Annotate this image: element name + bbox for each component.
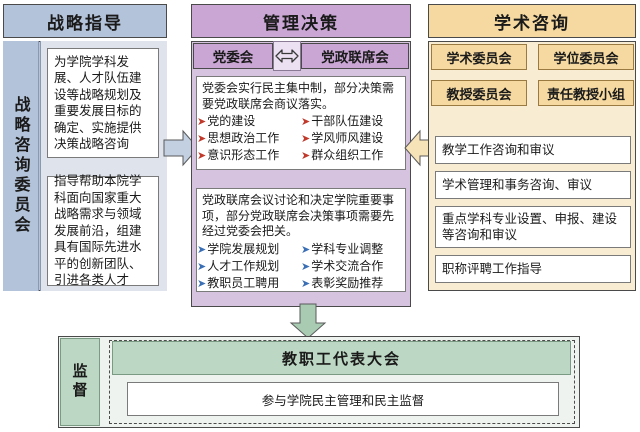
- middle-box2-text: 党政联席会议讨论和决定学院重要事项，部分党政联席会决策事项需要先经过党委会把关。: [197, 189, 405, 240]
- bullet-item: ➤教职员工聘用: [197, 275, 301, 292]
- bullet-arrow-icon: ➤: [197, 150, 206, 161]
- left-item-box: 为学院学科发展、人才队伍建设等战略规划及重要发展目标的确定、实施提供决策战略咨询: [47, 48, 159, 158]
- bullet-item: ➤意识形态工作: [197, 147, 301, 164]
- bullet-item: ➤党的建设: [197, 113, 301, 130]
- bullet-item: ➤学术交流合作: [301, 258, 405, 275]
- middle-column-header: 管理决策: [191, 4, 411, 38]
- tab-party-committee[interactable]: 党委会: [193, 43, 273, 69]
- bullet-item: ➤思想政治工作: [197, 130, 301, 147]
- bullet-arrow-icon: ➤: [197, 133, 206, 144]
- right-column-header: 学术咨询: [428, 4, 636, 38]
- right-item-text: 学术管理和事务咨询、审议: [436, 174, 630, 197]
- committee-responsible-professor-group[interactable]: 责任教授小组: [538, 80, 634, 106]
- bullet-arrow-icon: ➤: [301, 133, 310, 144]
- bullet-arrow-icon: ➤: [197, 244, 206, 255]
- right-item-box: 职称评聘工作指导: [435, 255, 631, 283]
- right-item-text: 教学工作咨询和审议: [436, 139, 630, 162]
- bullet-item: ➤干部队伍建设: [301, 113, 405, 130]
- right-item-box: 学术管理和事务咨询、审议: [435, 171, 631, 199]
- left-column-header: 战略指导: [3, 4, 167, 38]
- double-arrow-icon: [273, 41, 301, 71]
- middle-box-joint-meeting: 党政联席会议讨论和决定学院重要事项，部分党政联席会决策事项需要先经过党委会把关。…: [196, 188, 406, 292]
- bullet-item: ➤学风师风建设: [301, 130, 405, 147]
- committee-academic[interactable]: 学术委员会: [431, 44, 527, 70]
- bullet-arrow-icon: ➤: [301, 261, 310, 272]
- committee-degree[interactable]: 学位委员会: [538, 44, 634, 70]
- tab-party-admin-joint-meeting[interactable]: 党政联席会: [301, 43, 409, 69]
- middle-box1-text: 党委会实行民主集中制，部分决策需要党政联席会商议落实。: [197, 77, 405, 112]
- bullet-arrow-icon: ➤: [197, 116, 206, 127]
- right-item-box: 教学工作咨询和审议: [435, 136, 631, 164]
- middle-box1-bullet-list: ➤党的建设 ➤干部队伍建设 ➤思想政治工作 ➤学风师风建设 ➤意识形态工作 ➤群…: [197, 113, 405, 164]
- bullet-arrow-icon: ➤: [197, 278, 206, 289]
- left-item-text: 指导帮助本院学科面向国家重大战略需求与领域发展前沿，组建具有国际先进水平的创新团…: [48, 170, 158, 292]
- bottom-vertical-label: 监督: [60, 338, 100, 426]
- right-column-panel: [428, 41, 636, 291]
- arrow-down-icon: [288, 303, 328, 339]
- right-item-text: 职称评聘工作指导: [436, 258, 630, 281]
- bullet-arrow-icon: ➤: [301, 244, 310, 255]
- bullet-item: ➤表彰奖励推荐: [301, 275, 405, 292]
- bullet-item: ➤学院发展规划: [197, 241, 301, 258]
- left-item-text: 为学院学科发展、人才队伍建设等战略规划及重要发展目标的确定、实施提供决策战略咨询: [48, 51, 158, 156]
- bottom-detail-box: 参与学院民主管理和民主监督: [127, 382, 559, 416]
- middle-box-party-committee: 党委会实行民主集中制，部分决策需要党政联席会商议落实。 ➤党的建设 ➤干部队伍建…: [196, 76, 406, 170]
- bullet-arrow-icon: ➤: [197, 261, 206, 272]
- left-vertical-label: 战略咨询委员会: [3, 41, 39, 291]
- right-item-box: 重点学科专业设置、申报、建设等咨询和审议: [435, 206, 631, 248]
- bottom-title: 教职工代表大会: [112, 341, 571, 375]
- diagram-canvas: 战略指导 战略咨询委员会 为学院学科发展、人才队伍建设等战略规划及重要发展目标的…: [0, 0, 640, 432]
- bullet-arrow-icon: ➤: [301, 278, 310, 289]
- bullet-item: ➤人才工作规划: [197, 258, 301, 275]
- bullet-item: ➤群众组织工作: [301, 147, 405, 164]
- left-item-box: 指导帮助本院学科面向国家重大战略需求与领域发展前沿，组建具有国际先进水平的创新团…: [47, 176, 159, 286]
- committee-professors[interactable]: 教授委员会: [431, 80, 527, 106]
- right-item-text: 重点学科专业设置、申报、建设等咨询和审议: [436, 208, 630, 247]
- bullet-arrow-icon: ➤: [301, 150, 310, 161]
- middle-box2-bullet-list: ➤学院发展规划 ➤学科专业调整 ➤人才工作规划 ➤学术交流合作 ➤教职员工聘用 …: [197, 241, 405, 292]
- bullet-arrow-icon: ➤: [301, 116, 310, 127]
- bullet-item: ➤学科专业调整: [301, 241, 405, 258]
